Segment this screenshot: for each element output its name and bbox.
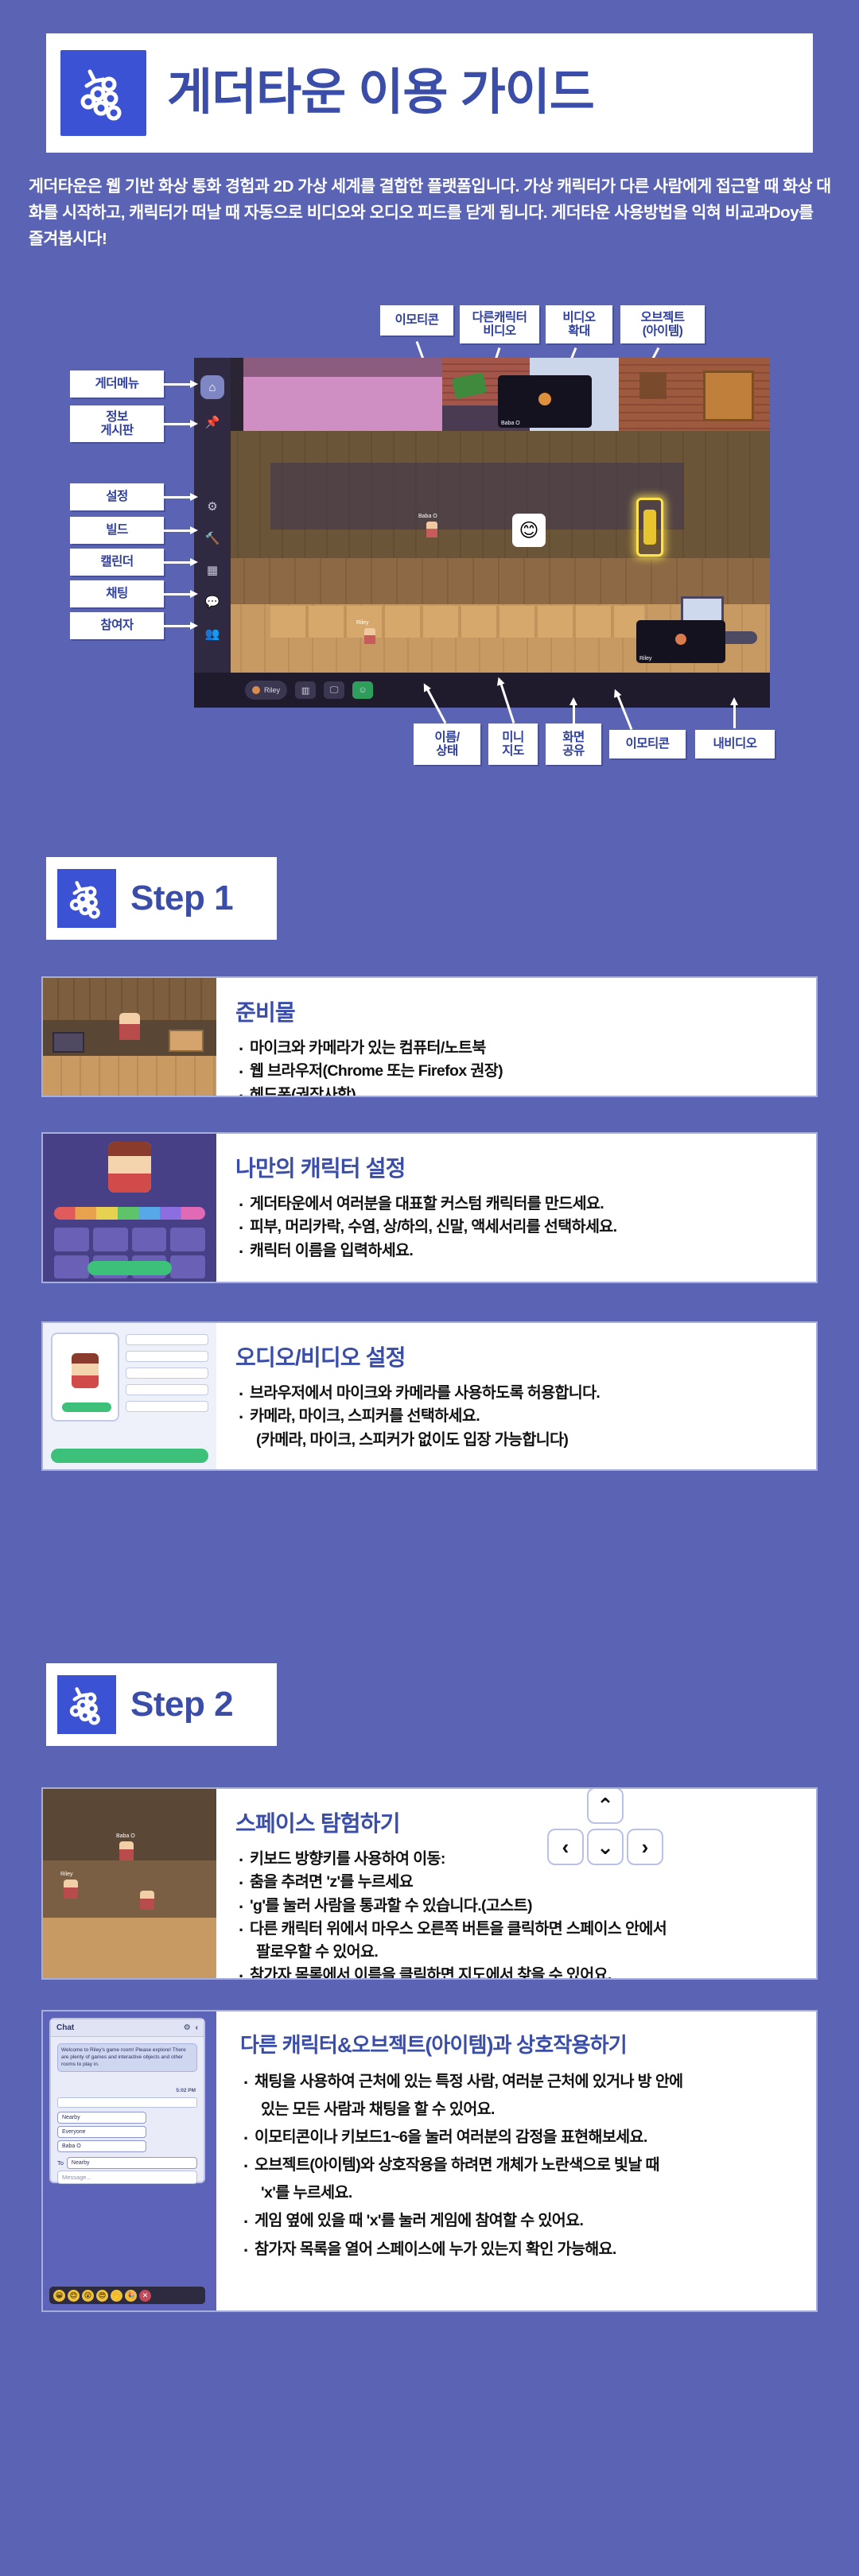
list-item-continuation: 팔로우할 수 있어요.	[235, 1941, 805, 1964]
screen-share-icon[interactable]: 🖵	[324, 681, 344, 699]
step-2-label: Step 2	[130, 1685, 233, 1724]
home-icon[interactable]: ⌂	[200, 375, 224, 399]
list-item-continuation: 있는 모든 사람과 채팅을 할 수 있어요.	[240, 2096, 805, 2124]
emoticon-bubble-icon: 😊	[512, 514, 546, 547]
callout-arrow-my-video	[733, 704, 736, 728]
card-title: 스페이스 탐험하기	[235, 1806, 805, 1838]
other-character-video-tile[interactable]: Baba O	[498, 375, 592, 428]
avatar	[252, 686, 260, 694]
av-setup-thumb	[43, 1323, 216, 1469]
people-icon[interactable]: 👥	[200, 622, 224, 646]
chat-scope-option-baba[interactable]: Baba O	[57, 2140, 146, 2152]
card-title: 오디오/비디오 설정	[235, 1340, 805, 1372]
gear-icon[interactable]: ⚙	[184, 2023, 191, 2032]
bullet-list: 게더타운에서 여러분을 대표할 커스텀 캐릭터를 만드세요. 피부, 머리카락,…	[235, 1193, 805, 1263]
chat-scope-option-nearby[interactable]: Nearby	[57, 2112, 146, 2124]
bullet-list: 마이크와 카메라가 있는 컴퓨터/노트북 웹 브라우저(Chrome 또는 Fi…	[235, 1037, 805, 1097]
close-icon[interactable]: ✕	[139, 2290, 151, 2302]
callout-object-item: 오브젝트 (아이템)	[620, 305, 705, 343]
intro-paragraph: 게더타운은 웹 기반 화상 통화 경험과 2D 가상 세계를 결합한 플랫폼입니…	[29, 173, 832, 253]
step-2-badge: Step 2	[46, 1663, 277, 1746]
game-world: Baba O Riley 😊 Baba O Riley	[194, 358, 770, 708]
list-item: 춤을 추려면 'z'를 누르세요	[235, 1871, 805, 1894]
callout-gather-menu: 게더메뉴	[70, 370, 164, 398]
other-character-avatar[interactable]: Baba O	[426, 522, 437, 537]
pin-icon[interactable]: 📌	[200, 410, 224, 434]
card-title: 준비물	[235, 995, 805, 1027]
list-item: 다른 캐릭터 위에서 마우스 오른쪽 버튼을 클릭하면 스페이스 안에서	[235, 1918, 805, 1941]
status-pill-label: Riley	[264, 686, 280, 694]
list-item-continuation: 'x'를 누르세요.	[240, 2179, 805, 2207]
arrow-down-key[interactable]: ⌄	[587, 1829, 624, 1865]
space-explore-thumb: Baba O Riley	[43, 1789, 216, 1978]
emoticon-2-icon[interactable]: 😊	[68, 2290, 80, 2302]
card-character-setup: 나만의 캐릭터 설정 게더타운에서 여러분을 대표할 커스텀 캐릭터를 만드세요…	[41, 1132, 818, 1283]
thumb-char-label: Riley	[60, 1872, 73, 1877]
callout-arrow-gather-menu	[164, 383, 191, 386]
card-av-setup: 오디오/비디오 설정 브라우저에서 마이크와 카메라를 사용하도록 허용합니다.…	[41, 1321, 818, 1471]
callout-arrow-participants	[164, 625, 191, 627]
my-character-avatar[interactable]: Riley	[364, 628, 375, 644]
list-item: 키보드 방향키를 사용하여 이동:	[235, 1848, 805, 1871]
my-video-tile[interactable]: Riley	[636, 620, 725, 663]
callout-chat: 채팅	[70, 580, 164, 607]
page-header: 게더타운 이용 가이드	[46, 33, 813, 153]
gather-left-sidebar: ⌂ 📌 ⚙ 🔨 ▦ 💬 👥	[194, 358, 231, 708]
chat-panel-thumb: Chat ⚙ ‹ Welcome to Riley's game room! P…	[43, 2012, 216, 2310]
emoticon-5-icon[interactable]: 👋	[111, 2290, 122, 2302]
list-item: 캐릭터 이름을 입력하세요.	[235, 1240, 805, 1263]
list-item: 채팅을 사용하여 근처에 있는 특정 사람, 여러분 근처에 있거나 방 안에	[240, 2068, 805, 2096]
emoticon-bar-icon[interactable]: ☺	[352, 681, 373, 699]
callout-arrow-screen-share	[573, 704, 575, 725]
callout-settings: 설정	[70, 483, 164, 510]
list-item: 게임 옆에 있을 때 'x'를 눌러 게임에 참여할 수 있어요.	[240, 2207, 805, 2235]
gather-dots-logo-icon	[60, 50, 146, 136]
annotated-screenshot-block: 이모티콘 다른캐릭터 비디오 비디오 확대 오브젝트 (아이템)	[0, 294, 859, 787]
callout-info-board: 정보 게시판	[70, 405, 164, 442]
list-item: 오브젝트(아이템)와 상호작용을 하려면 개체가 노란색으로 빛날 때	[240, 2151, 805, 2179]
callout-calendar: 캘린더	[70, 549, 164, 576]
list-item: 웹 브라우저(Chrome 또는 Firefox 권장)	[235, 1060, 805, 1083]
emoticon-bar: 😀 😊 😮 😍 👋 🎉 ✕	[49, 2287, 205, 2304]
chat-message-input[interactable]: Message...	[57, 2171, 197, 2184]
card-interactions: Chat ⚙ ‹ Welcome to Riley's game room! P…	[41, 2010, 818, 2312]
chat-title: Chat	[56, 2023, 74, 2032]
hammer-icon[interactable]: 🔨	[200, 526, 224, 550]
arrow-up-key[interactable]: ⌃	[587, 1787, 624, 1824]
character-label: Baba O	[418, 514, 437, 519]
gear-icon[interactable]: ⚙	[200, 495, 224, 518]
video-tile-name: Baba O	[501, 421, 520, 426]
callout-emoticon-bar: 이모티콘	[609, 730, 686, 758]
bullet-list: 키보드 방향키를 사용하여 이동: 춤을 추려면 'z'를 누르세요 'g'를 …	[235, 1848, 805, 1980]
callout-arrow-build	[164, 530, 191, 532]
chat-to-select[interactable]: Nearby	[67, 2157, 197, 2169]
name-status-pill[interactable]: Riley	[245, 681, 287, 700]
mini-map-icon[interactable]: ▥	[295, 681, 316, 699]
chat-welcome-message: Welcome to Riley's game room! Please exp…	[57, 2043, 197, 2072]
step-1-badge: Step 1	[46, 857, 277, 940]
gather-dots-logo-icon	[57, 869, 116, 928]
guide-page: 게더타운 이용 가이드 게더타운은 웹 기반 화상 통화 경험과 2D 가상 세…	[0, 0, 859, 2576]
list-item: 피부, 머리카락, 수염, 상/하의, 신말, 액세서리를 선택하세요.	[235, 1216, 805, 1239]
list-item-continuation: (카메라, 마이크, 스피커가 없이도 입장 가능합니다)	[235, 1429, 805, 1452]
card-title: 나만의 캐릭터 설정	[235, 1151, 805, 1183]
gather-app-screenshot: Baba O Riley 😊 Baba O Riley	[194, 358, 770, 708]
list-item: 이모티콘이나 키보드1~6을 눌러 여러분의 감정을 표현해보세요.	[240, 2124, 805, 2151]
emoticon-4-icon[interactable]: 😍	[96, 2290, 108, 2302]
chat-scope-option-everyone[interactable]: Everyone	[57, 2126, 146, 2138]
list-item: 게더타운에서 여러분을 대표할 커스텀 캐릭터를 만드세요.	[235, 1193, 805, 1216]
callout-arrow-chat	[164, 593, 191, 596]
character-label: Riley	[356, 620, 369, 626]
thumb-char-label: Baba O	[116, 1833, 135, 1839]
list-item: 헤드폰(권장사항)	[235, 1084, 805, 1098]
callout-screen-share: 화면 공유	[546, 724, 601, 765]
callout-emoticon: 이모티콘	[380, 305, 453, 336]
my-video-name: Riley	[639, 656, 652, 661]
bullet-list: 채팅을 사용하여 근처에 있는 특정 사람, 여러분 근처에 있거나 방 안에 …	[240, 2068, 805, 2264]
callout-arrow-info-board	[164, 423, 191, 425]
callout-name-status: 이름/ 상태	[414, 724, 480, 765]
chat-bubble-icon[interactable]: 💬	[200, 590, 224, 614]
callout-my-video: 내비디오	[695, 730, 775, 758]
callout-arrow-calendar	[164, 561, 191, 564]
card-preparations: 준비물 마이크와 카메라가 있는 컴퓨터/노트북 웹 브라우저(Chrome 또…	[41, 976, 818, 1097]
list-item: 참가자 목록을 열어 스페이스에 누가 있는지 확인 가능해요.	[240, 2236, 805, 2264]
list-item: 카메라, 마이크, 스피커를 선택하세요.	[235, 1405, 805, 1428]
emoticon-6-icon[interactable]: 🎉	[125, 2290, 137, 2302]
list-item: 브라우저에서 마이크와 카메라를 사용하도록 허용합니다.	[235, 1382, 805, 1405]
calendar-icon[interactable]: ▦	[200, 558, 224, 582]
callout-mini-map: 미니 지도	[488, 724, 538, 765]
glowing-object-item[interactable]	[636, 498, 663, 557]
character-editor-thumb	[43, 1134, 216, 1282]
list-item: 참가자 목록에서 이름을 클릭하면 지도에서 찾을 수 있어요.	[235, 1964, 805, 1980]
bullet-list: 브라우저에서 마이크와 카메라를 사용하도록 허용합니다. 카메라, 마이크, …	[235, 1382, 805, 1452]
callout-build: 빌드	[70, 517, 164, 544]
arrow-left-key[interactable]: ‹	[547, 1829, 584, 1865]
chat-to-label: To	[57, 2159, 64, 2167]
card-title: 다른 캐릭터&오브젝트(아이템)과 상호작용하기	[240, 2029, 805, 2058]
callout-other-character-video: 다른캐릭터 비디오	[460, 305, 539, 343]
callout-participants: 참여자	[70, 612, 164, 639]
arrow-right-key[interactable]: ›	[627, 1829, 663, 1865]
list-item: 마이크와 카메라가 있는 컴퓨터/노트북	[235, 1037, 805, 1060]
callout-arrow-settings	[164, 496, 191, 499]
chevron-left-icon[interactable]: ‹	[196, 2023, 198, 2032]
page-title: 게더타운 이용 가이드	[167, 68, 594, 118]
chat-timestamp: 5:02 PM	[176, 2088, 196, 2093]
arrow-key-cluster: ⌃ ‹ ⌄ ›	[547, 1787, 674, 1875]
card-explore-space: Baba O Riley 스페이스 탐험하기 키보드 방향키를 사용하여 이동:…	[41, 1787, 818, 1980]
emoticon-1-icon[interactable]: 😀	[53, 2290, 65, 2302]
callout-video-enlarge: 비디오 확대	[546, 305, 612, 343]
list-item: 'g'를 눌러 사람을 통과할 수 있습니다.(고스트)	[235, 1895, 805, 1918]
gather-bottom-bar: Riley ▥ 🖵 ☺	[194, 673, 770, 708]
emoticon-3-icon[interactable]: 😮	[82, 2290, 94, 2302]
workspace-thumb	[43, 978, 216, 1096]
step-1-label: Step 1	[130, 879, 233, 918]
gather-dots-logo-icon	[57, 1675, 116, 1734]
